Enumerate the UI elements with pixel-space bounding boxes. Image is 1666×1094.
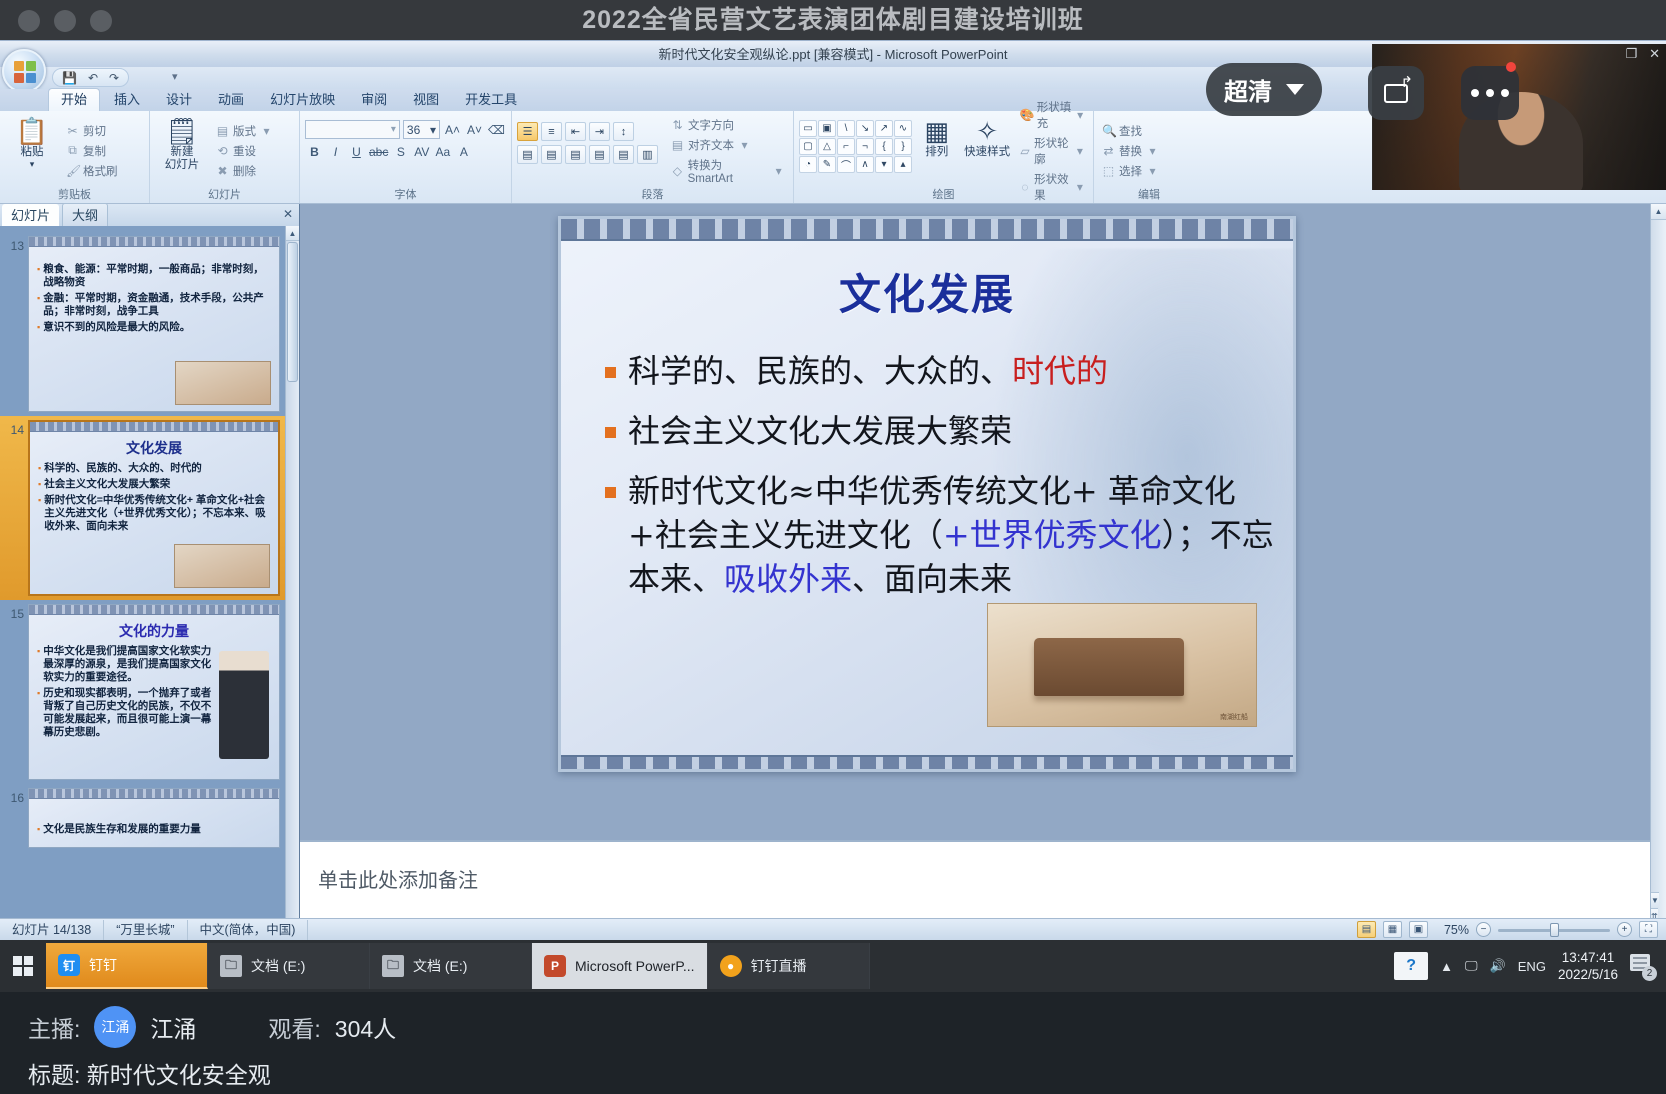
font-size-combo[interactable]: 36 ▾: [403, 120, 440, 139]
mini-bullet: ▪ 粮食、能源：平常时期，一般商品；非常时刻，战略物资: [37, 263, 273, 289]
shape-elbow-icon[interactable]: ⌐: [837, 138, 855, 155]
mini-bullet-text: 社会主义文化大发展大繁荣: [44, 478, 170, 491]
bullet-marker-icon: ▪: [37, 823, 40, 836]
zoom-in-button[interactable]: +: [1617, 922, 1632, 937]
font-size-value: 36: [407, 123, 420, 137]
host-name: 江涌: [150, 1010, 196, 1044]
font-name-dropdown-icon[interactable]: ▾: [391, 124, 396, 135]
increase-indent-button[interactable]: ⇥: [589, 122, 610, 141]
taskbar-item-label: Microsoft PowerP...: [575, 958, 695, 974]
numbering-button[interactable]: ≡: [541, 122, 562, 141]
arrange-button[interactable]: ▦ 排列: [916, 114, 957, 187]
shape-bracket2-icon[interactable]: }: [894, 138, 912, 155]
slide-decor-band: [29, 789, 279, 799]
text-segment-blue: +世界优秀文化: [943, 516, 1162, 554]
speaker-icon[interactable]: 🔊: [1490, 958, 1506, 974]
layout-label: 版式: [233, 123, 256, 139]
slides-pane-scrollbar[interactable]: ▲: [285, 226, 299, 940]
reset-label: 重设: [233, 143, 256, 159]
more-dot: [1471, 89, 1479, 97]
replace-icon: ⇄: [1102, 144, 1115, 158]
shape-more-icon[interactable]: ▾: [875, 156, 893, 173]
shape-elbow2-icon[interactable]: ¬: [856, 138, 874, 155]
delete-icon: ✖: [216, 164, 229, 178]
group-label-font: 字体: [300, 186, 511, 202]
taskbar-item-powerpoint[interactable]: P Microsoft PowerP...: [532, 943, 708, 989]
shape-chevron-icon[interactable]: ∧: [856, 156, 874, 173]
slides-pane-tabs[interactable]: 幻灯片 大纲 ✕: [0, 204, 299, 226]
group-label-editing: 编辑: [1094, 186, 1204, 202]
scroll-up-icon[interactable]: ▲: [1651, 204, 1666, 220]
align-text-label: 对齐文本: [688, 137, 734, 153]
mini-image: [175, 361, 271, 405]
shape-triangle-icon[interactable]: △: [818, 138, 836, 155]
mini-bullet-text: 中华文化是我们提高国家文化软实力最深厚的源泉，是我们提高国家文化软实力的重要途径…: [43, 645, 213, 684]
taskbar-item-dingtalk-live[interactable]: ● 钉钉直播: [708, 943, 870, 989]
shape-arc-icon[interactable]: ⌒: [837, 156, 855, 173]
shape-fill-button[interactable]: 🎨 形状填充 ▾: [1017, 98, 1088, 132]
start-button[interactable]: [0, 940, 46, 992]
slide-counter: 幻灯片 14/138: [0, 920, 104, 940]
increase-font-size-button[interactable]: A˄: [443, 120, 462, 139]
text-segment: 科学的、民族的、大众的、: [628, 352, 1012, 390]
system-tray: ? ▲ 🖵 🔊 ENG 13:47:41 2022/5/16 2: [1394, 949, 1666, 983]
topic-row: 标题: 新时代文化安全观: [28, 1056, 1638, 1090]
viewers-count: 304人: [335, 1010, 396, 1044]
slide-sorter-view-button[interactable]: ▦: [1383, 921, 1402, 938]
notifications-button[interactable]: 2: [1630, 954, 1656, 978]
shape-outline-icon: ▱: [1020, 144, 1030, 158]
redo-icon[interactable]: ↷: [109, 71, 119, 85]
select-dropdown-icon[interactable]: ▾: [1146, 164, 1159, 178]
text-direction-button[interactable]: ⇅ 文字方向: [668, 116, 788, 134]
underline-button[interactable]: U: [347, 142, 366, 161]
reset-button[interactable]: ⟲ 重设: [213, 142, 276, 160]
clock[interactable]: 13:47:41 2022/5/16: [1558, 949, 1618, 983]
arrange-icon: ▦: [924, 118, 949, 144]
shape-pie-icon[interactable]: ◔: [799, 156, 817, 173]
reset-icon: ⟲: [216, 144, 229, 158]
mini-bullet-text: 金融：平常时期，资金融通，技术手段，公共产品；非常时刻，战争工具: [43, 292, 273, 318]
new-slide-button[interactable]: 🗒 新建 幻灯片: [155, 114, 209, 187]
chevron-down-icon[interactable]: [1286, 84, 1304, 95]
format-painter-button[interactable]: 🖌 格式刷: [63, 162, 121, 180]
copy-icon: ⧉: [66, 143, 79, 158]
topic-value: 新时代文化安全观: [87, 1062, 271, 1088]
align-text-button[interactable]: ▤ 对齐文本 ▾: [668, 136, 788, 154]
shape-freeform-icon[interactable]: ✎: [818, 156, 836, 173]
clock-time: 13:47:41: [1558, 949, 1618, 966]
shape-rect-icon[interactable]: ▢: [799, 138, 817, 155]
cut-button[interactable]: ✂ 剪切: [63, 122, 121, 140]
slide-bullet-2: 社会主义文化大发展大繁荣: [605, 409, 1275, 453]
italic-button[interactable]: I: [326, 142, 345, 161]
more-dot: [1501, 89, 1509, 97]
mini-bullet: ▪ 历史和现实都表明，一个抛弃了或者背叛了自己历史文化的民族，不仅不可能发展起来…: [37, 687, 213, 739]
close-icon[interactable]: ✕: [283, 207, 293, 221]
slide-show-view-button[interactable]: ▣: [1409, 921, 1428, 938]
notification-dot: [1506, 62, 1516, 72]
taskbar-item-label: 文档 (E:): [413, 956, 467, 976]
viewers-label: 观看:: [268, 1010, 320, 1044]
select-label: 选择: [1119, 163, 1142, 179]
picture-in-picture-icon: [1384, 84, 1408, 103]
bullet-marker-icon: ▪: [37, 292, 40, 318]
host-row: 主播: 江涌 江涌 观看: 304人: [28, 1006, 1638, 1048]
convert-to-smartart-button[interactable]: ◇ 转换为 SmartArt ▾: [668, 156, 788, 186]
quick-styles-button[interactable]: ✧ 快速样式: [961, 114, 1012, 187]
bullet-marker-icon: ▪: [37, 263, 40, 289]
slide-bullet-text: 新时代文化≈中华优秀传统文化+ 革命文化+社会主义先进文化（+世界优秀文化）；不…: [628, 469, 1275, 601]
delete-label: 删除: [233, 163, 256, 179]
undo-icon[interactable]: ↶: [88, 71, 98, 85]
shape-gallery[interactable]: ▭ ▣ \ ↘ ↗ ∿ ▢ △ ⌐ ¬ { } ◔ ✎ ⌒: [799, 114, 912, 187]
mini-bullet-text: 粮食、能源：平常时期，一般商品；非常时刻，战略物资: [43, 263, 273, 289]
shape-outline-label: 形状轮廓: [1034, 135, 1071, 167]
host-label: 主播:: [28, 1010, 80, 1044]
find-label: 查找: [1119, 123, 1142, 139]
slide-bullet-text: 科学的、民族的、大众的、时代的: [628, 349, 1108, 393]
stream-quality-selector[interactable]: 超清: [1206, 63, 1322, 116]
restore-icon[interactable]: ❐: [1625, 46, 1637, 62]
slide-number: 14: [6, 420, 24, 437]
tab-开始[interactable]: 开始: [48, 88, 100, 111]
zoom-out-button[interactable]: −: [1476, 922, 1491, 937]
group-label-slides: 幻灯片: [150, 186, 299, 202]
ribbon-group-font: ▾ 36 ▾ A˄ A˅ ⌫ B I U abc S: [300, 111, 512, 203]
slide-thumbnail-13[interactable]: 13 ▪ 粮食、能源：平常时期，一般商品；非常时刻，战略物资 ▪ 金: [0, 232, 299, 416]
shape-arrow-icon[interactable]: ↘: [856, 120, 874, 137]
text-segment: 、面向未来: [852, 560, 1012, 598]
bullet-marker-icon: ▪: [38, 462, 41, 475]
copy-label: 复制: [83, 143, 106, 159]
text-direction-label: 文字方向: [688, 117, 734, 133]
slide-thumbnail-list[interactable]: 13 ▪ 粮食、能源：平常时期，一般商品；非常时刻，战略物资 ▪ 金: [0, 226, 299, 940]
slide-number: 16: [6, 788, 24, 805]
clear-formatting-button[interactable]: ⌫: [487, 120, 506, 139]
distribute-button[interactable]: ▤: [613, 145, 634, 164]
paste-icon: 📋: [16, 118, 48, 144]
paste-dropdown-icon[interactable]: ▾: [30, 159, 35, 170]
mini-slide-title: 文化的力量: [29, 621, 279, 641]
replace-label: 替换: [1119, 143, 1142, 159]
taskbar-item-dingtalk[interactable]: 钉 钉钉: [46, 943, 208, 989]
bullet-marker-icon: [605, 487, 616, 498]
shape-outline-dropdown-icon[interactable]: ▾: [1075, 144, 1085, 158]
ime-help-icon[interactable]: ?: [1394, 952, 1428, 980]
layout-button[interactable]: ▤ 版式 ▾: [213, 122, 276, 140]
slide-title[interactable]: 文化发展: [561, 261, 1293, 322]
slide-mini-preview[interactable]: 文化发展 ▪ 科学的、民族的、大众的、时代的 ▪ 社会主义文化大发展大繁荣: [28, 420, 280, 596]
quality-label: 超清: [1224, 72, 1272, 107]
slide-number: 15: [6, 604, 24, 621]
language-indicator[interactable]: 中文(简体，中国): [188, 920, 309, 940]
text-direction-icon: ⇅: [671, 118, 684, 132]
slide-thumbnail-14[interactable]: 14 文化发展 ▪ 科学的、民族的、大众的、时代的 ▪: [0, 416, 299, 600]
current-slide[interactable]: 文化发展 科学的、民族的、大众的、时代的 社会主义文化大发展大繁荣: [558, 216, 1296, 772]
arrange-label: 排列: [925, 146, 948, 159]
tab-动画[interactable]: 动画: [206, 89, 256, 111]
scroll-down-icon[interactable]: ▼: [1651, 892, 1659, 908]
shape-fill-icon: 🎨: [1020, 108, 1033, 122]
text-shadow-button[interactable]: S: [391, 142, 410, 161]
bullet-marker-icon: ▪: [38, 494, 41, 533]
slide-bullet-text: 社会主义文化大发展大繁荣: [628, 409, 1012, 453]
shape-curve-icon[interactable]: ∿: [894, 120, 912, 137]
select-icon: ⬚: [1102, 164, 1115, 178]
align-text-icon: ▤: [671, 138, 684, 152]
paste-label: 粘贴: [21, 146, 44, 159]
powerpoint-icon: P: [544, 955, 566, 977]
theme-name[interactable]: “万里长城”: [104, 920, 187, 940]
character-spacing-button[interactable]: AV: [412, 142, 431, 161]
notification-count: 2: [1642, 966, 1657, 981]
ribbon-group-paragraph: ☰ ≡ ⇤ ⇥ ↕ ▤ ▤ ▤ ▤ ▤ ▥: [512, 111, 794, 203]
mini-bullet: ▪ 意识不到的风险是最大的风险。: [37, 321, 273, 334]
slide-thumbnail-16[interactable]: 16 ▪ 文化是民族生存和发展的重要力量: [0, 784, 299, 852]
scroll-up-icon[interactable]: ▲: [286, 226, 299, 241]
customize-quick-access-icon[interactable]: ▾: [172, 70, 178, 83]
dingtalk-live-icon: ●: [720, 955, 742, 977]
slide-thumbnail-15[interactable]: 15 文化的力量 ▪ 中华文化是我们提高国家文化软实力最深厚的源泉，是我们提高国…: [0, 600, 299, 784]
shape-scroll-icon[interactable]: ▴: [894, 156, 912, 173]
cut-label: 剪切: [83, 123, 106, 139]
replace-button[interactable]: ⇄ 替换 ▾: [1099, 142, 1162, 160]
image-caption: 南湖红船: [1220, 712, 1248, 722]
delete-slide-button[interactable]: ✖ 删除: [213, 162, 276, 180]
notes-placeholder[interactable]: 单击此处添加备注: [318, 864, 1650, 893]
normal-view-button[interactable]: ▤: [1357, 921, 1376, 938]
slide-decor-band: [30, 422, 278, 432]
boat-shape: [1034, 638, 1184, 696]
close-icon[interactable]: ✕: [1649, 46, 1660, 62]
mini-bullet: ▪ 社会主义文化大发展大繁荣: [38, 478, 272, 491]
stream-window-chrome: 2022全省民营文艺表演团体剧目建设培训班: [0, 0, 1666, 44]
mini-bullet-text: 新时代文化=中华优秀传统文化+ 革命文化+社会主义先进文化（+世界优秀文化）；不…: [44, 494, 272, 533]
taskbar-item-explorer-2[interactable]: 🗀 文档 (E:): [370, 943, 532, 989]
windows-start-icon: [13, 956, 33, 976]
slide-number: 13: [6, 236, 24, 253]
mini-bullet: ▪ 科学的、民族的、大众的、时代的: [38, 462, 272, 475]
picture-in-picture-button[interactable]: [1368, 66, 1424, 120]
quick-styles-label: 快速样式: [964, 146, 1010, 159]
tab-slides[interactable]: 幻灯片: [2, 204, 59, 226]
font-color-button[interactable]: A: [454, 142, 473, 161]
smartart-label: 转换为 SmartArt: [688, 157, 769, 185]
windows-taskbar: 钉 钉钉 🗀 文档 (E:) 🗀 文档 (E:) P Microsoft Pow…: [0, 940, 1666, 992]
zoom-level: 75%: [1435, 923, 1469, 937]
bullets-button[interactable]: ☰: [517, 122, 538, 141]
avatar[interactable]: 江涌: [94, 1006, 136, 1048]
select-button[interactable]: ⬚ 选择 ▾: [1099, 162, 1162, 180]
show-hidden-icons-button[interactable]: ▲: [1440, 959, 1453, 974]
text-segment-blue: 吸收外来: [724, 560, 852, 598]
mini-slide-title: 文化发展: [30, 438, 278, 458]
bullet-marker-icon: ▪: [37, 687, 40, 739]
slide-vertical-scrollbar[interactable]: ▲ ⇊ ⇈ ▼: [1650, 204, 1666, 940]
slide-image-boat[interactable]: 南湖红船: [987, 603, 1257, 727]
dingtalk-icon: 钉: [58, 954, 80, 976]
editing-area: 幻灯片 大纲 ✕ 13 ▪ 粮食、能源：平常时期，一般商品；: [0, 204, 1666, 940]
shape-callout-icon[interactable]: ▣: [818, 120, 836, 137]
tab-插入[interactable]: 插入: [102, 89, 152, 111]
shape-line-icon[interactable]: \: [837, 120, 855, 137]
mini-bullet: ▪ 中华文化是我们提高国家文化软实力最深厚的源泉，是我们提高国家文化软实力的重要…: [37, 645, 213, 684]
align-center-button[interactable]: ▤: [541, 145, 562, 164]
shape-outline-button[interactable]: ▱ 形状轮廓 ▾: [1017, 134, 1088, 168]
slide-canvas-area: 文化发展 科学的、民族的、大众的、时代的 社会主义文化大发展大繁荣: [300, 204, 1666, 940]
bullet-marker-icon: ▪: [38, 478, 41, 491]
paste-button[interactable]: 📋 粘贴 ▾: [5, 114, 59, 187]
slides-pane: 幻灯片 大纲 ✕ 13 ▪ 粮食、能源：平常时期，一般商品；: [0, 204, 300, 940]
smartart-icon: ◇: [671, 164, 684, 178]
align-left-button[interactable]: ▤: [517, 145, 538, 164]
find-icon: 🔍: [1102, 124, 1115, 138]
bullet-marker-icon: [605, 427, 616, 438]
text-segment-red: 时代的: [1012, 352, 1108, 390]
font-size-dropdown-icon[interactable]: ▾: [430, 123, 436, 137]
decrease-font-size-button[interactable]: A˅: [465, 120, 484, 139]
shape-fill-dropdown-icon[interactable]: ▾: [1075, 108, 1085, 122]
bullet-marker-icon: ▪: [37, 321, 40, 334]
fit-to-window-button[interactable]: ⛶: [1639, 921, 1658, 938]
ribbon-group-slides: 🗒 新建 幻灯片 ▤ 版式 ▾ ⟲ 重设: [150, 111, 300, 203]
shape-bracket-icon[interactable]: {: [875, 138, 893, 155]
find-button[interactable]: 🔍 查找: [1099, 122, 1162, 140]
tab-设计[interactable]: 设计: [154, 89, 204, 111]
change-case-button[interactable]: Aa: [433, 142, 452, 161]
scrollbar-thumb[interactable]: [287, 242, 298, 382]
tab-outline[interactable]: 大纲: [62, 203, 108, 226]
slide-bullet-1: 科学的、民族的、大众的、时代的: [605, 349, 1275, 393]
folder-icon: 🗀: [382, 955, 404, 977]
slide-mini-preview[interactable]: ▪ 文化是民族生存和发展的重要力量: [28, 788, 280, 848]
tab-开发工具[interactable]: 开发工具: [453, 89, 529, 111]
mini-bullet-text: 历史和现实都表明，一个抛弃了或者背叛了自己历史文化的民族，不仅不可能发展起来，而…: [43, 687, 213, 739]
language-indicator[interactable]: ENG: [1518, 959, 1546, 974]
monitor-icon[interactable]: 🖵: [1465, 958, 1478, 974]
tab-幻灯片放映[interactable]: 幻灯片放映: [258, 89, 347, 111]
clock-date: 2022/5/16: [1558, 966, 1618, 983]
office-orb-button[interactable]: [2, 49, 46, 93]
mini-bullet-text: 文化是民族生存和发展的重要力量: [43, 823, 201, 836]
justify-button[interactable]: ▤: [589, 145, 610, 164]
columns-button[interactable]: ▥: [637, 145, 658, 164]
line-spacing-button[interactable]: ↕: [613, 122, 634, 141]
mini-person-photo: [219, 651, 269, 759]
ribbon-group-clipboard: 📋 粘贴 ▾ ✂ 剪切 ⧉ 复制 �: [0, 111, 150, 203]
slide-bullet-3: 新时代文化≈中华优秀传统文化+ 革命文化+社会主义先进文化（+世界优秀文化）；不…: [605, 469, 1275, 601]
cut-icon: ✂: [66, 124, 79, 138]
more-dot: [1486, 89, 1494, 97]
mini-bullet: ▪ 新时代文化=中华优秀传统文化+ 革命文化+社会主义先进文化（+世界优秀文化）…: [38, 494, 272, 533]
view-and-zoom-controls: ▤ ▦ ▣ 75% − + ⛶: [1357, 921, 1666, 938]
ribbon-group-drawing: ▭ ▣ \ ↘ ↗ ∿ ▢ △ ⌐ ¬ { } ◔ ✎ ⌒: [794, 111, 1094, 203]
strikethrough-button[interactable]: abc: [368, 142, 389, 161]
mini-bullet: ▪ 文化是民族生存和发展的重要力量: [37, 823, 273, 836]
layout-icon: ▤: [216, 124, 229, 138]
slide-body-placeholder[interactable]: 科学的、民族的、大众的、时代的 社会主义文化大发展大繁荣: [605, 349, 1275, 617]
smartart-dropdown-icon[interactable]: ▾: [772, 164, 785, 178]
slide-top-border-decor: [561, 219, 1293, 241]
folder-icon: 🗀: [220, 955, 242, 977]
slide-bottom-border-decor: [561, 755, 1293, 769]
group-label-drawing: 绘图: [794, 186, 1093, 202]
format-painter-icon: 🖌: [66, 164, 79, 178]
taskbar-item-label: 钉钉直播: [751, 956, 807, 976]
taskbar-item-label: 钉钉: [89, 955, 117, 975]
slide-decor-band: [29, 237, 279, 247]
slide-decor-band: [29, 605, 279, 615]
shape-connector-icon[interactable]: ↗: [875, 120, 893, 137]
format-painter-label: 格式刷: [83, 163, 118, 179]
layout-dropdown-icon[interactable]: ▾: [260, 124, 273, 138]
group-label-paragraph: 段落: [512, 186, 793, 202]
text-segment: 社会主义文化大发展大繁荣: [628, 412, 1012, 450]
save-icon[interactable]: 💾: [62, 71, 77, 85]
office-logo-icon: [14, 61, 36, 83]
replace-dropdown-icon[interactable]: ▾: [1146, 144, 1159, 158]
live-stream-info-bar: 主播: 江涌 江涌 观看: 304人 标题: 新时代文化安全观: [0, 992, 1666, 1094]
tab-视图[interactable]: 视图: [401, 89, 451, 111]
tab-审阅[interactable]: 审阅: [349, 89, 399, 111]
taskbar-item-explorer-1[interactable]: 🗀 文档 (E:): [208, 943, 370, 989]
shape-textbox-icon[interactable]: ▭: [799, 120, 817, 137]
taskbar-item-label: 文档 (E:): [251, 956, 305, 976]
quick-access-buttons[interactable]: 💾 ↶ ↷: [52, 68, 129, 87]
group-label-clipboard: 剪贴板: [0, 186, 149, 202]
zoom-slider[interactable]: [1498, 923, 1610, 937]
mini-bullet-text: 意识不到的风险是最大的风险。: [43, 321, 190, 334]
screen: 2022全省民营文艺表演团体剧目建设培训班 新时代文化安全观纵论.ppt [兼容…: [0, 0, 1666, 1094]
new-slide-label: 新建 幻灯片: [165, 146, 200, 172]
powerpoint-status-bar: 幻灯片 14/138 “万里长城” 中文(简体，中国) ▤ ▦ ▣ 75% − …: [0, 918, 1666, 940]
zoom-slider-handle[interactable]: [1550, 923, 1559, 937]
bullet-marker-icon: ▪: [37, 645, 40, 684]
align-right-button[interactable]: ▤: [565, 145, 586, 164]
ribbon-group-editing: 🔍 查找 ⇄ 替换 ▾ ⬚ 选择 ▾: [1094, 111, 1204, 203]
slide-mini-preview[interactable]: 文化的力量 ▪ 中华文化是我们提高国家文化软实力最深厚的源泉，是我们提高国家文化…: [28, 604, 280, 780]
more-options-button[interactable]: [1461, 66, 1519, 120]
font-name-combo[interactable]: ▾: [305, 120, 400, 139]
bold-button[interactable]: B: [305, 142, 324, 161]
topic-label: 标题:: [28, 1062, 80, 1088]
copy-button[interactable]: ⧉ 复制: [63, 142, 121, 160]
mini-bullet-text: 科学的、民族的、大众的、时代的: [44, 462, 202, 475]
quick-styles-icon: ✧: [976, 118, 998, 144]
align-text-dropdown-icon[interactable]: ▾: [738, 138, 751, 152]
decrease-indent-button[interactable]: ⇤: [565, 122, 586, 141]
mini-image: [174, 544, 270, 588]
mini-bullet: ▪ 金融：平常时期，资金融通，技术手段，公共产品；非常时刻，战争工具: [37, 292, 273, 318]
new-slide-icon: 🗒: [165, 118, 198, 144]
stream-title: 2022全省民营文艺表演团体剧目建设培训班: [0, 0, 1666, 44]
bullet-marker-icon: [605, 367, 616, 378]
video-window-buttons[interactable]: ❐ ✕: [1625, 46, 1660, 62]
shape-fill-label: 形状填充: [1037, 99, 1071, 131]
slide-mini-preview[interactable]: ▪ 粮食、能源：平常时期，一般商品；非常时刻，战略物资 ▪ 金融：平常时期，资金…: [28, 236, 280, 412]
